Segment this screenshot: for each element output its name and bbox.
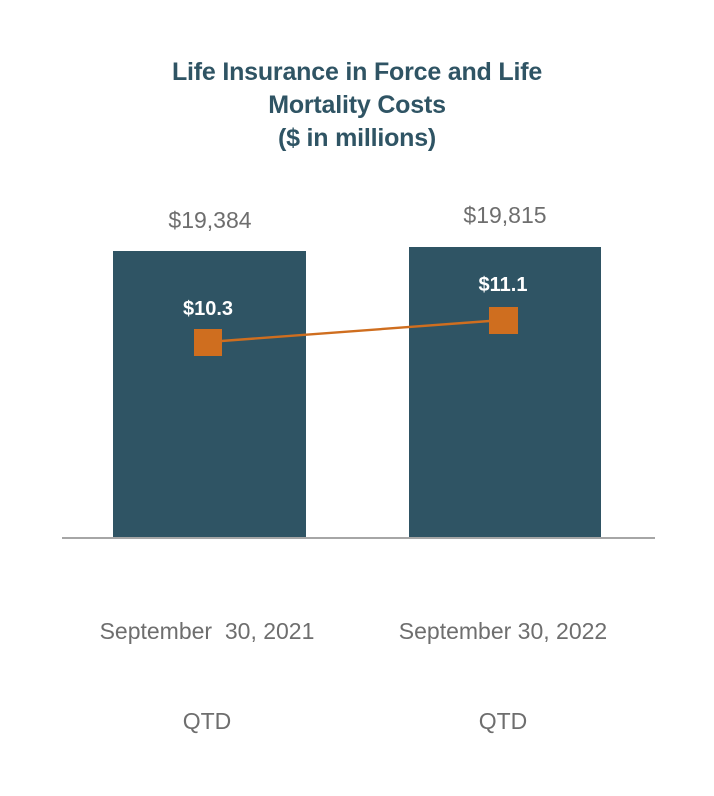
line-marker-2022 [489,307,518,334]
chart-container: Life Insurance in Force and Life Mortali… [0,0,714,680]
x-axis-label-2021-line-1: September 30, 2021 [62,616,352,646]
x-axis-label-2022-line-2: QTD [358,706,648,736]
plot-area: $19,384 $19,815 $10.3 $11.1 September 30… [0,0,714,680]
line-value-label-2022: $11.1 [403,274,603,297]
line-value-label-2021: $10.3 [108,298,308,321]
x-axis-label-2022-line-1: September 30, 2022 [358,616,648,646]
x-axis-label-2021: September 30, 2021 QTD [62,556,352,796]
x-axis-line [62,537,655,539]
x-axis-label-2022: September 30, 2022 QTD [358,556,648,796]
x-axis-label-2021-line-2: QTD [62,706,352,736]
line-marker-2021 [194,329,222,356]
